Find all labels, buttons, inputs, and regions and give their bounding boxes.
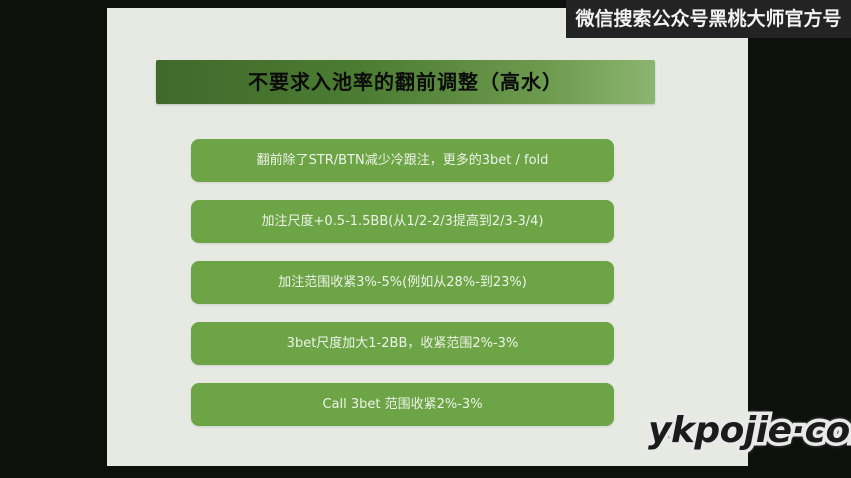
bullet-item-3: 加注范围收紧3%-5%(例如从28%-到23%) bbox=[191, 261, 614, 304]
presentation-slide: 不要求入池率的翻前调整（高水） 翻前除了STR/BTN减少冷跟注，更多的3bet… bbox=[107, 8, 748, 466]
slide-title-banner: 不要求入池率的翻前调整（高水） bbox=[156, 60, 655, 104]
bullet-item-label: 翻前除了STR/BTN减少冷跟注，更多的3bet / fold bbox=[257, 154, 549, 167]
bullet-item-1: 翻前除了STR/BTN减少冷跟注，更多的3bet / fold bbox=[191, 139, 614, 182]
bullet-item-label: 加注尺度+0.5-1.5BB(从1/2-2/3提高到2/3-3/4) bbox=[262, 215, 544, 228]
bullet-list: 翻前除了STR/BTN减少冷跟注，更多的3bet / fold 加注尺度+0.5… bbox=[191, 139, 614, 426]
watermark-top-banner-text: 微信搜索公众号黑桃大师官方号 bbox=[575, 10, 841, 29]
bullet-item-2: 加注尺度+0.5-1.5BB(从1/2-2/3提高到2/3-3/4) bbox=[191, 200, 614, 243]
letterbox-bottom bbox=[0, 466, 851, 478]
slide-title: 不要求入池率的翻前调整（高水） bbox=[248, 72, 563, 92]
video-frame: 不要求入池率的翻前调整（高水） 翻前除了STR/BTN减少冷跟注，更多的3bet… bbox=[0, 0, 851, 478]
watermark-site-url: ykpojie·com bbox=[648, 413, 851, 449]
bullet-item-label: Call 3bet 范围收紧2%-3% bbox=[322, 398, 482, 411]
watermark-top-banner: 微信搜索公众号黑桃大师官方号 bbox=[566, 0, 851, 38]
bullet-item-5: Call 3bet 范围收紧2%-3% bbox=[191, 383, 614, 426]
bullet-item-4: 3bet尺度加大1-2BB，收紧范围2%-3% bbox=[191, 322, 614, 365]
bullet-item-label: 加注范围收紧3%-5%(例如从28%-到23%) bbox=[278, 276, 527, 289]
letterbox-left bbox=[0, 0, 107, 478]
bullet-item-label: 3bet尺度加大1-2BB，收紧范围2%-3% bbox=[287, 337, 519, 350]
letterbox-right bbox=[748, 0, 851, 478]
